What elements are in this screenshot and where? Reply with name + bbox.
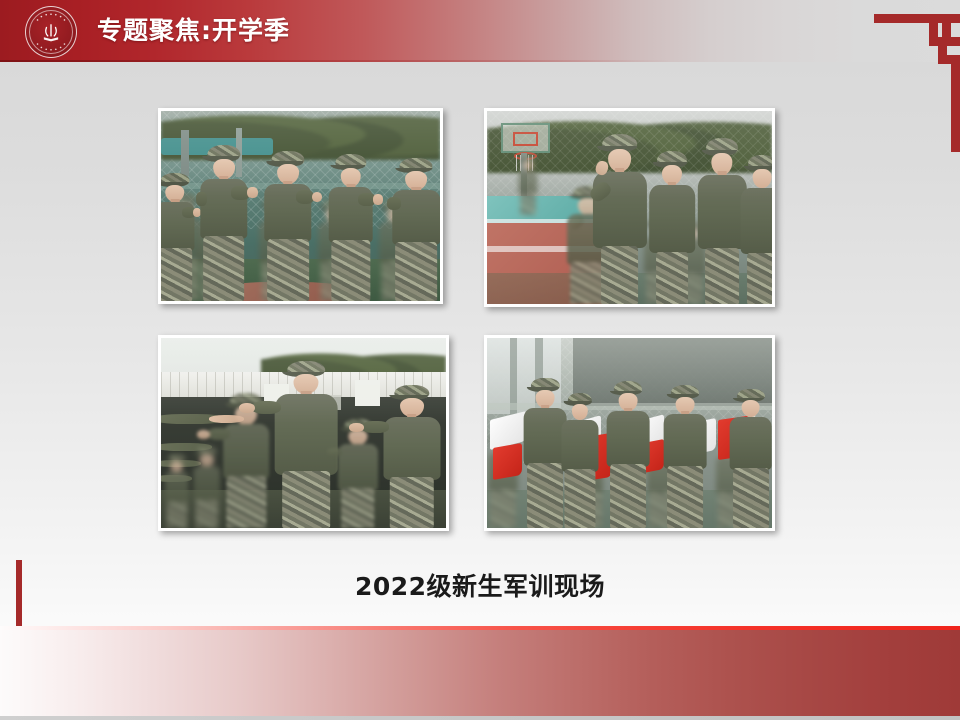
photo-1-scene [161, 111, 440, 301]
photo-arm-extension-drill[interactable] [158, 335, 449, 531]
photo-2-scene [487, 111, 772, 304]
university-seal-icon [25, 6, 77, 58]
photo-flag-march[interactable] [484, 335, 775, 531]
footer-band [0, 630, 960, 718]
seal-emblem-icon [38, 19, 64, 45]
photo-4-scene [487, 338, 772, 528]
university-logo [20, 5, 82, 59]
photo-3-scene [161, 338, 446, 528]
slide-caption: 2022级新生军训现场 [0, 570, 960, 604]
corner-ornament-top-right-icon [856, 0, 960, 152]
page-title: 专题聚焦:开学季 [97, 14, 290, 48]
footer-bottom-edge [0, 716, 960, 720]
slide-canvas: 专题聚焦:开学季 [0, 0, 960, 720]
photo-salute-basketball-court[interactable] [484, 108, 775, 307]
photo-marching-formation[interactable] [158, 108, 443, 304]
header-band: 专题聚焦:开学季 [0, 0, 960, 62]
